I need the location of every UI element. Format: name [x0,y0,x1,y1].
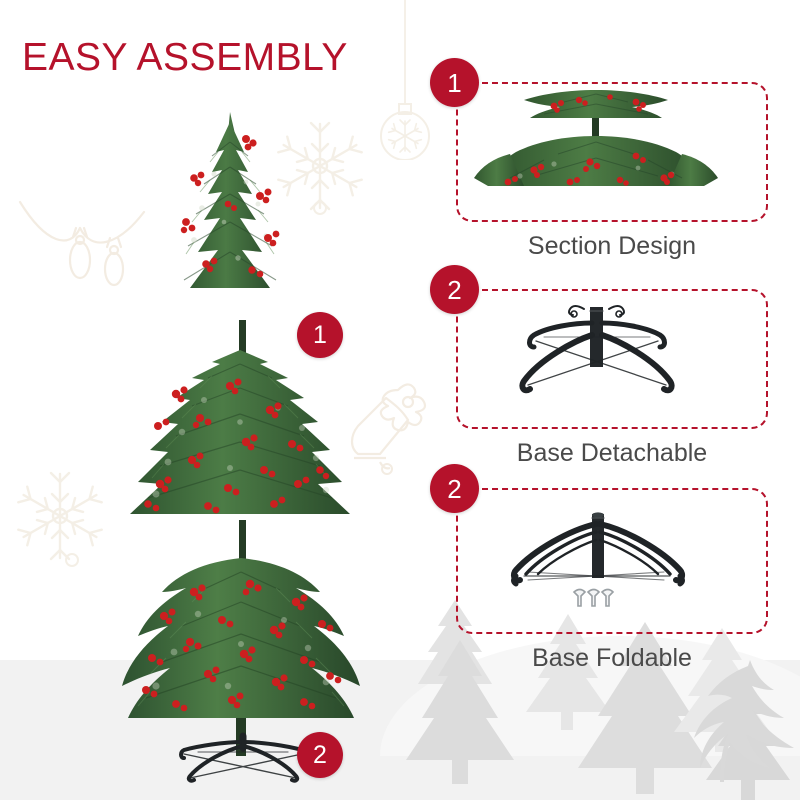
middle-tree-section [112,348,368,528]
tree-stand-folded-illustration [424,488,768,634]
badge-number: 2 [313,743,327,768]
bottom-tree-section [98,558,384,730]
feature-panel-label: Section Design [456,232,768,261]
screw-icons [574,590,613,607]
section-design-illustration [424,82,768,222]
tree-stand-open-illustration [424,289,768,429]
feature-panel-section-design: 1 [424,82,768,267]
top-tree-section [140,112,320,337]
badge-number: 2 [447,277,461,303]
tree-assembly-diagram: 1 2 [0,0,420,800]
badge-number: 1 [313,323,327,348]
feature-panel-label: Base Foldable [456,644,768,673]
feature-panel-badge: 2 [430,265,479,314]
tree-callout-badge-2: 2 [297,732,343,778]
badge-number: 1 [447,70,461,96]
feature-panel-base-foldable: 2 [424,488,768,678]
badge-number: 2 [447,476,461,502]
tree-callout-badge-1: 1 [297,312,343,358]
tree-stand-base [168,730,318,786]
feature-panel-badge: 1 [430,58,479,107]
infographic-canvas: EASY ASSEMBLY [0,0,800,800]
feature-panel-base-detachable: 2 Base Detacha [424,289,768,474]
feature-panel-label: Base Detachable [456,439,768,468]
feature-panel-badge: 2 [430,464,479,513]
